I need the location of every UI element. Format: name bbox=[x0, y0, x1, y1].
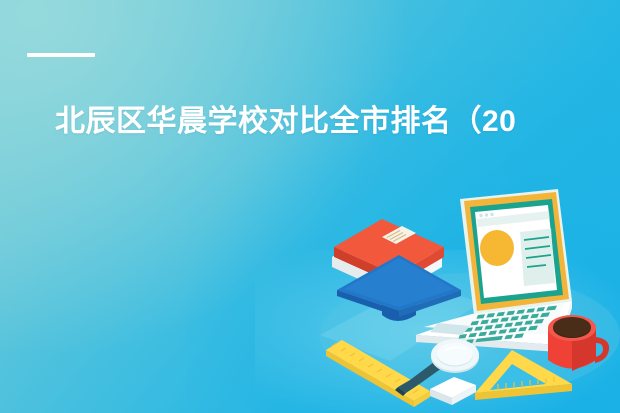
desk-study-illustration bbox=[320, 185, 620, 413]
page-title: 北辰区华晨学校对比全市排名（20 bbox=[55, 103, 620, 141]
poster-canvas: 北辰区华晨学校对比全市排名（20 bbox=[0, 0, 620, 413]
title-rule bbox=[27, 53, 95, 57]
